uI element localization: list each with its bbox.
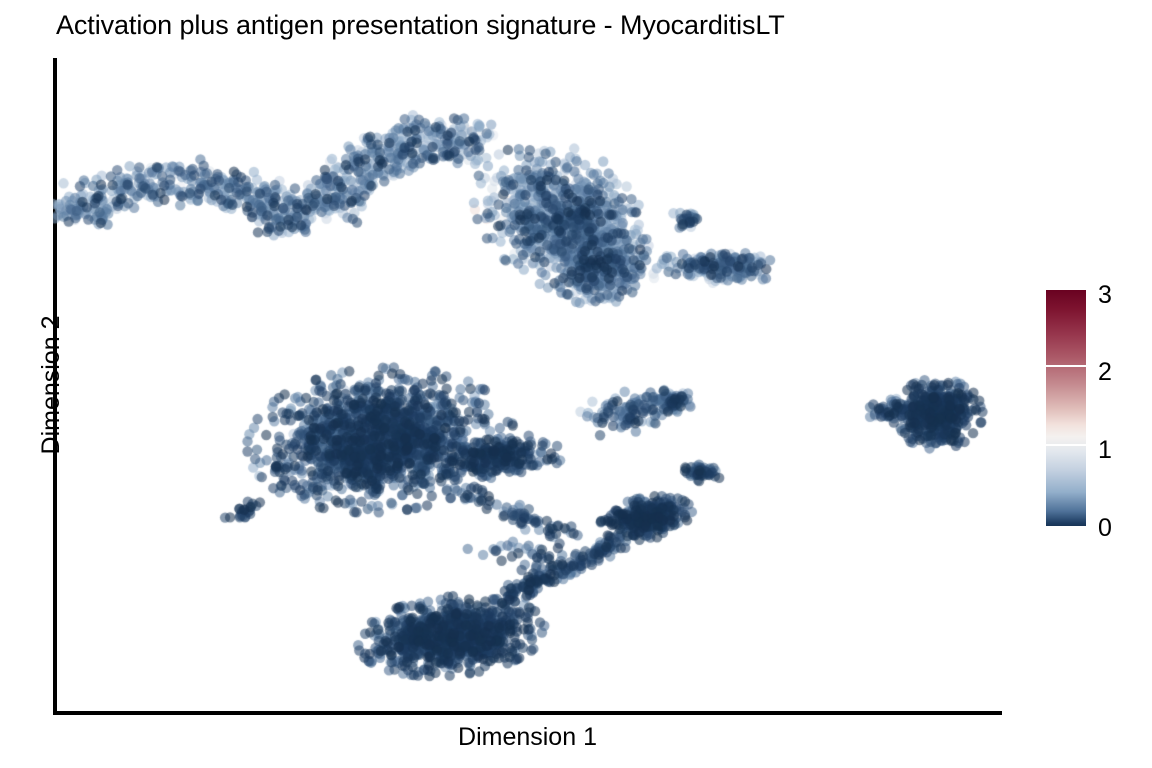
page-title: Activation plus antigen presentation sig… xyxy=(56,8,785,42)
colorbar-tick-0 xyxy=(1046,526,1086,528)
colorbar-tick-3 xyxy=(1046,288,1086,290)
colorbar-label-0: 0 xyxy=(1098,516,1112,541)
scatter-points-canvas xyxy=(53,58,1002,711)
x-axis-label: Dimension 1 xyxy=(53,721,1002,753)
scatter-plot-figure: Activation plus antigen presentation sig… xyxy=(0,0,1152,768)
colorbar-label-1: 1 xyxy=(1098,438,1112,463)
colorbar-label-2: 2 xyxy=(1098,360,1112,385)
x-axis-line xyxy=(53,711,1002,715)
colorbar-tick-1 xyxy=(1046,444,1086,446)
colorbar-gradient xyxy=(1046,288,1086,528)
y-axis-label: Dimension 2 xyxy=(36,255,66,515)
colorbar-label-3: 3 xyxy=(1098,283,1112,308)
colorbar-legend: 3 2 1 0 xyxy=(1046,288,1146,532)
colorbar-tick-2 xyxy=(1046,365,1086,367)
